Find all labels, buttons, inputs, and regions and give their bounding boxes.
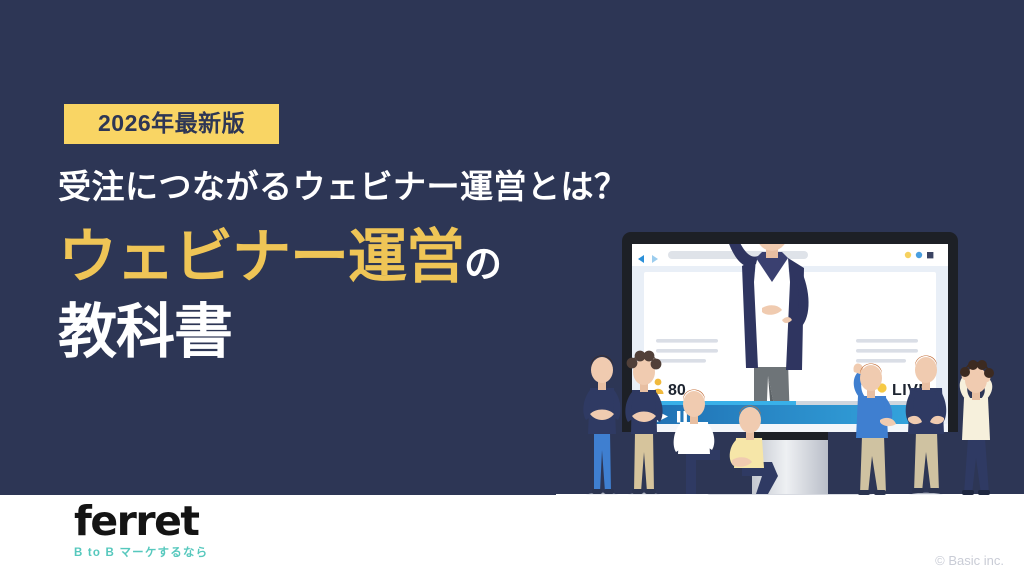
title-line-two: 教科書: [58, 303, 618, 362]
viewer-count: 80: [668, 382, 686, 399]
person-icon: [655, 379, 662, 386]
title-particle: の: [464, 244, 502, 286]
page-title: ウェビナー運営の 教科書: [58, 228, 618, 362]
footer-band: ferret B to B マーケするなら © Basic inc.: [0, 495, 1024, 576]
window-dot-blue-icon: [916, 252, 922, 258]
pause-icon: [677, 411, 680, 423]
ferret-logo[interactable]: ferret B to B マーケするなら: [74, 501, 264, 560]
logo-tagline: B to B マーケするなら: [74, 544, 264, 560]
subheading: 受注につながるウェビナー運営とは？: [58, 160, 628, 208]
title-highlight: ウェビナー運営: [58, 224, 464, 290]
copyright-notice: © Basic inc.: [935, 553, 1004, 568]
window-dot-close-icon: [927, 252, 933, 258]
progress-bar: [644, 401, 796, 405]
logo-wordmark: ferret: [74, 501, 264, 542]
status-badge: 2026年最新版: [64, 104, 279, 144]
window-dot-yellow-icon: [905, 252, 911, 258]
slide-canvas: 2026年最新版 受注につながるウェビナー運営とは？ ウェビナー運営の 教科書: [0, 0, 1024, 576]
